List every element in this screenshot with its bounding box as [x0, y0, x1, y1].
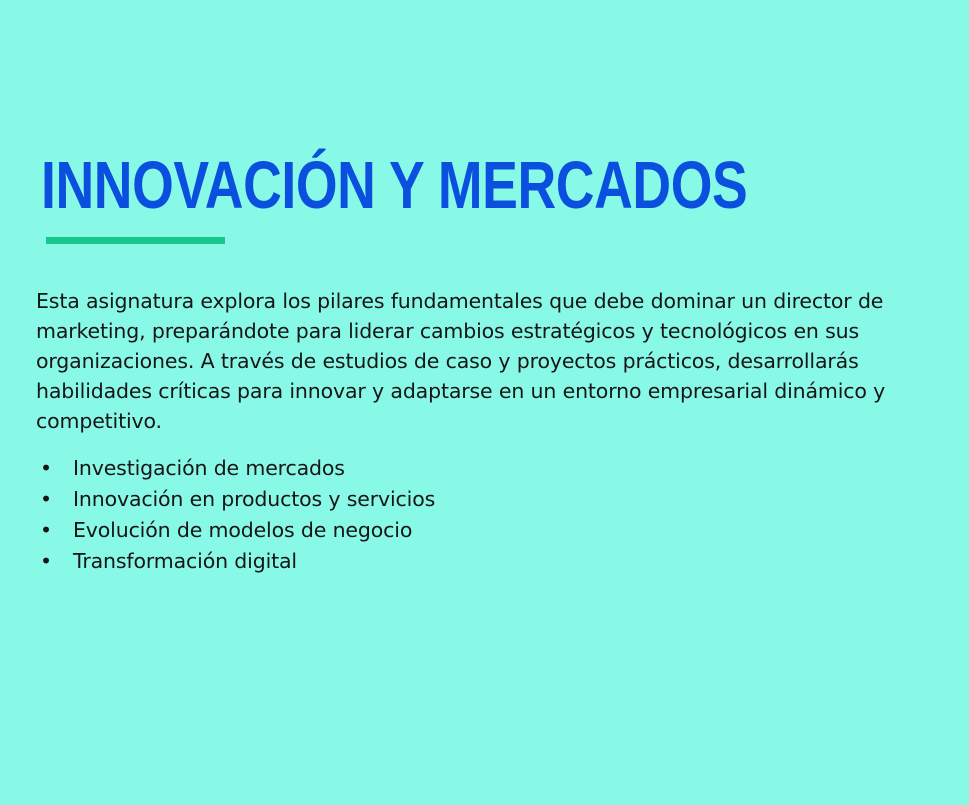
bullet-icon: • [40, 453, 52, 484]
intro-paragraph: Esta asignatura explora los pilares fund… [36, 286, 896, 436]
bullet-icon: • [40, 484, 52, 515]
list-item: • Investigación de mercados [40, 453, 740, 484]
slide-canvas: INNOVACIÓN Y MERCADOS Esta asignatura ex… [0, 0, 969, 805]
body-block: Esta asignatura explora los pilares fund… [36, 286, 896, 436]
list-item-label: Investigación de mercados [73, 456, 345, 480]
list-item: • Transformación digital [40, 546, 740, 577]
title-block: INNOVACIÓN Y MERCADOS [41, 152, 901, 220]
page-title: INNOVACIÓN Y MERCADOS [41, 152, 729, 220]
bullet-icon: • [40, 546, 52, 577]
feature-list: • Investigación de mercados • Innovación… [40, 453, 740, 577]
bullet-icon: • [40, 515, 52, 546]
list-item-label: Transformación digital [73, 549, 297, 573]
list-item: • Evolución de modelos de negocio [40, 515, 740, 546]
title-underline-rule [46, 237, 225, 244]
list-item-label: Innovación en productos y servicios [73, 487, 435, 511]
list-item-label: Evolución de modelos de negocio [73, 518, 412, 542]
list-item: • Innovación en productos y servicios [40, 484, 740, 515]
